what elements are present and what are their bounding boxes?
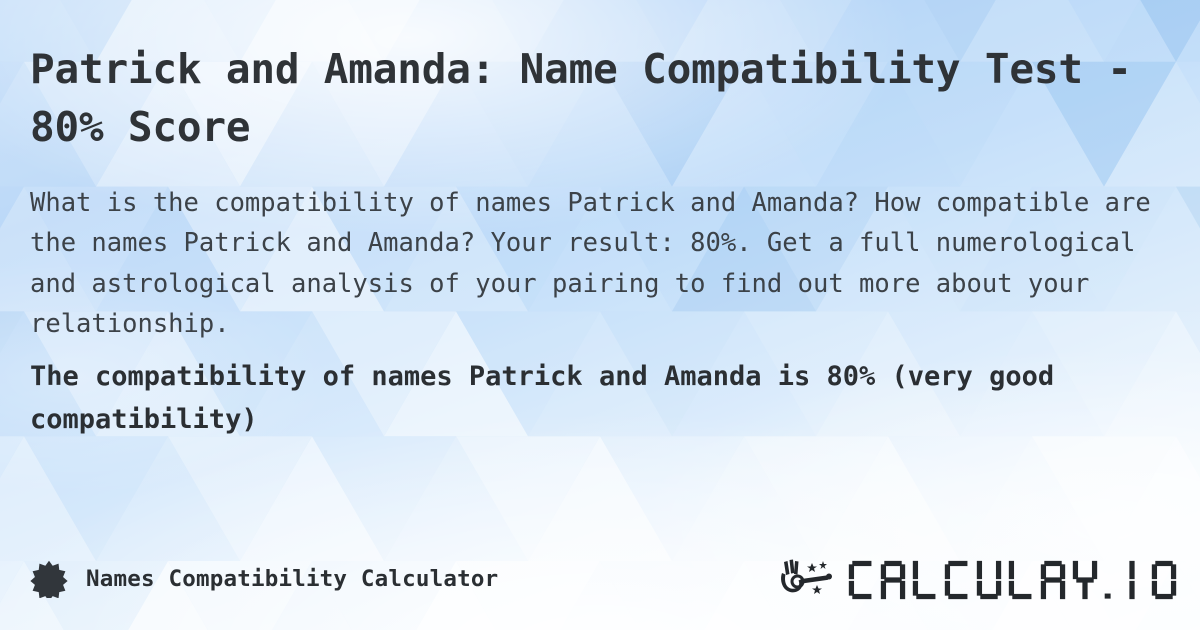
calculatio-logo[interactable] xyxy=(779,558,1178,600)
result-statement: The compatibility of names Patrick and A… xyxy=(30,356,1180,441)
card-content: Patrick and Amanda: Name Compatibility T… xyxy=(30,0,1176,630)
page-title: Patrick and Amanda: Name Compatibility T… xyxy=(30,40,1170,156)
magic-wand-hand-icon xyxy=(779,559,841,599)
brand-block: Names Compatibility Calculator xyxy=(30,560,498,598)
card-footer: Names Compatibility Calculator xyxy=(30,554,1178,604)
logo-wordmark xyxy=(847,558,1178,600)
social-share-card: Patrick and Amanda: Name Compatibility T… xyxy=(0,0,1200,630)
brand-label: Names Compatibility Calculator xyxy=(86,566,498,592)
starburst-icon xyxy=(30,560,68,598)
page-description: What is the compatibility of names Patri… xyxy=(30,183,1176,344)
